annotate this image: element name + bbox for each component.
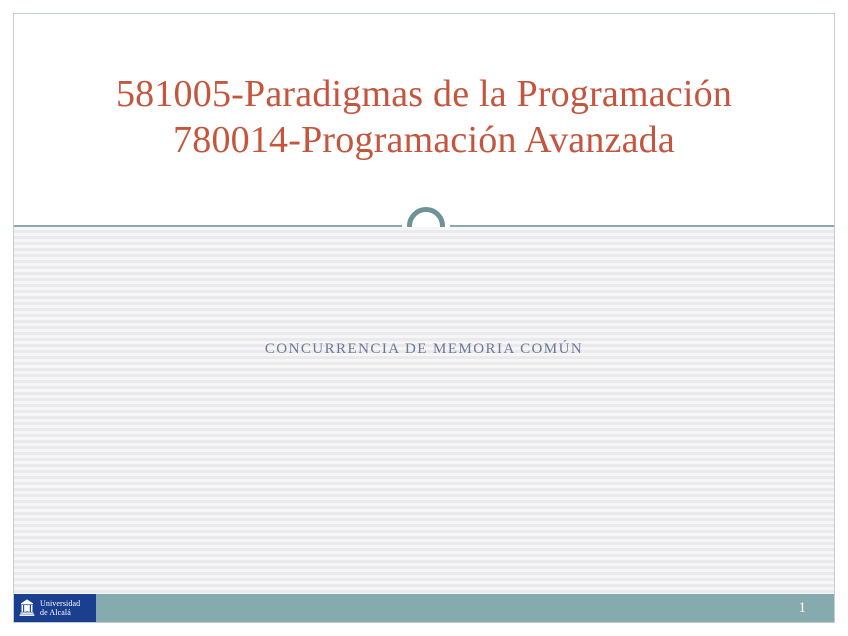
presentation-slide: 581005-Paradigmas de la Programación 780… bbox=[13, 13, 835, 623]
slide-subtitle: CONCURRENCIA DE MEMORIA COMÚN bbox=[14, 341, 834, 358]
slide-body: CONCURRENCIA DE MEMORIA COMÚN bbox=[14, 227, 834, 609]
slide-title-line-2: 780014-Programación Avanzada bbox=[14, 117, 834, 163]
slide-title: 581005-Paradigmas de la Programación 780… bbox=[14, 71, 834, 163]
university-logo-line-1: Universidad bbox=[40, 599, 80, 608]
university-logo: Universidad de Alcalá bbox=[14, 594, 96, 622]
title-band: 581005-Paradigmas de la Programación 780… bbox=[14, 14, 834, 225]
slide-page-number: 1 bbox=[799, 594, 807, 622]
slide-title-line-1: 581005-Paradigmas de la Programación bbox=[14, 71, 834, 117]
slide-footer: Universidad de Alcalá 1 bbox=[14, 594, 834, 622]
slide-canvas: 581005-Paradigmas de la Programación 780… bbox=[0, 0, 848, 636]
university-crest-icon bbox=[17, 598, 37, 618]
university-logo-line-2: de Alcalá bbox=[40, 608, 80, 617]
university-logo-text: Universidad de Alcalá bbox=[40, 599, 80, 617]
